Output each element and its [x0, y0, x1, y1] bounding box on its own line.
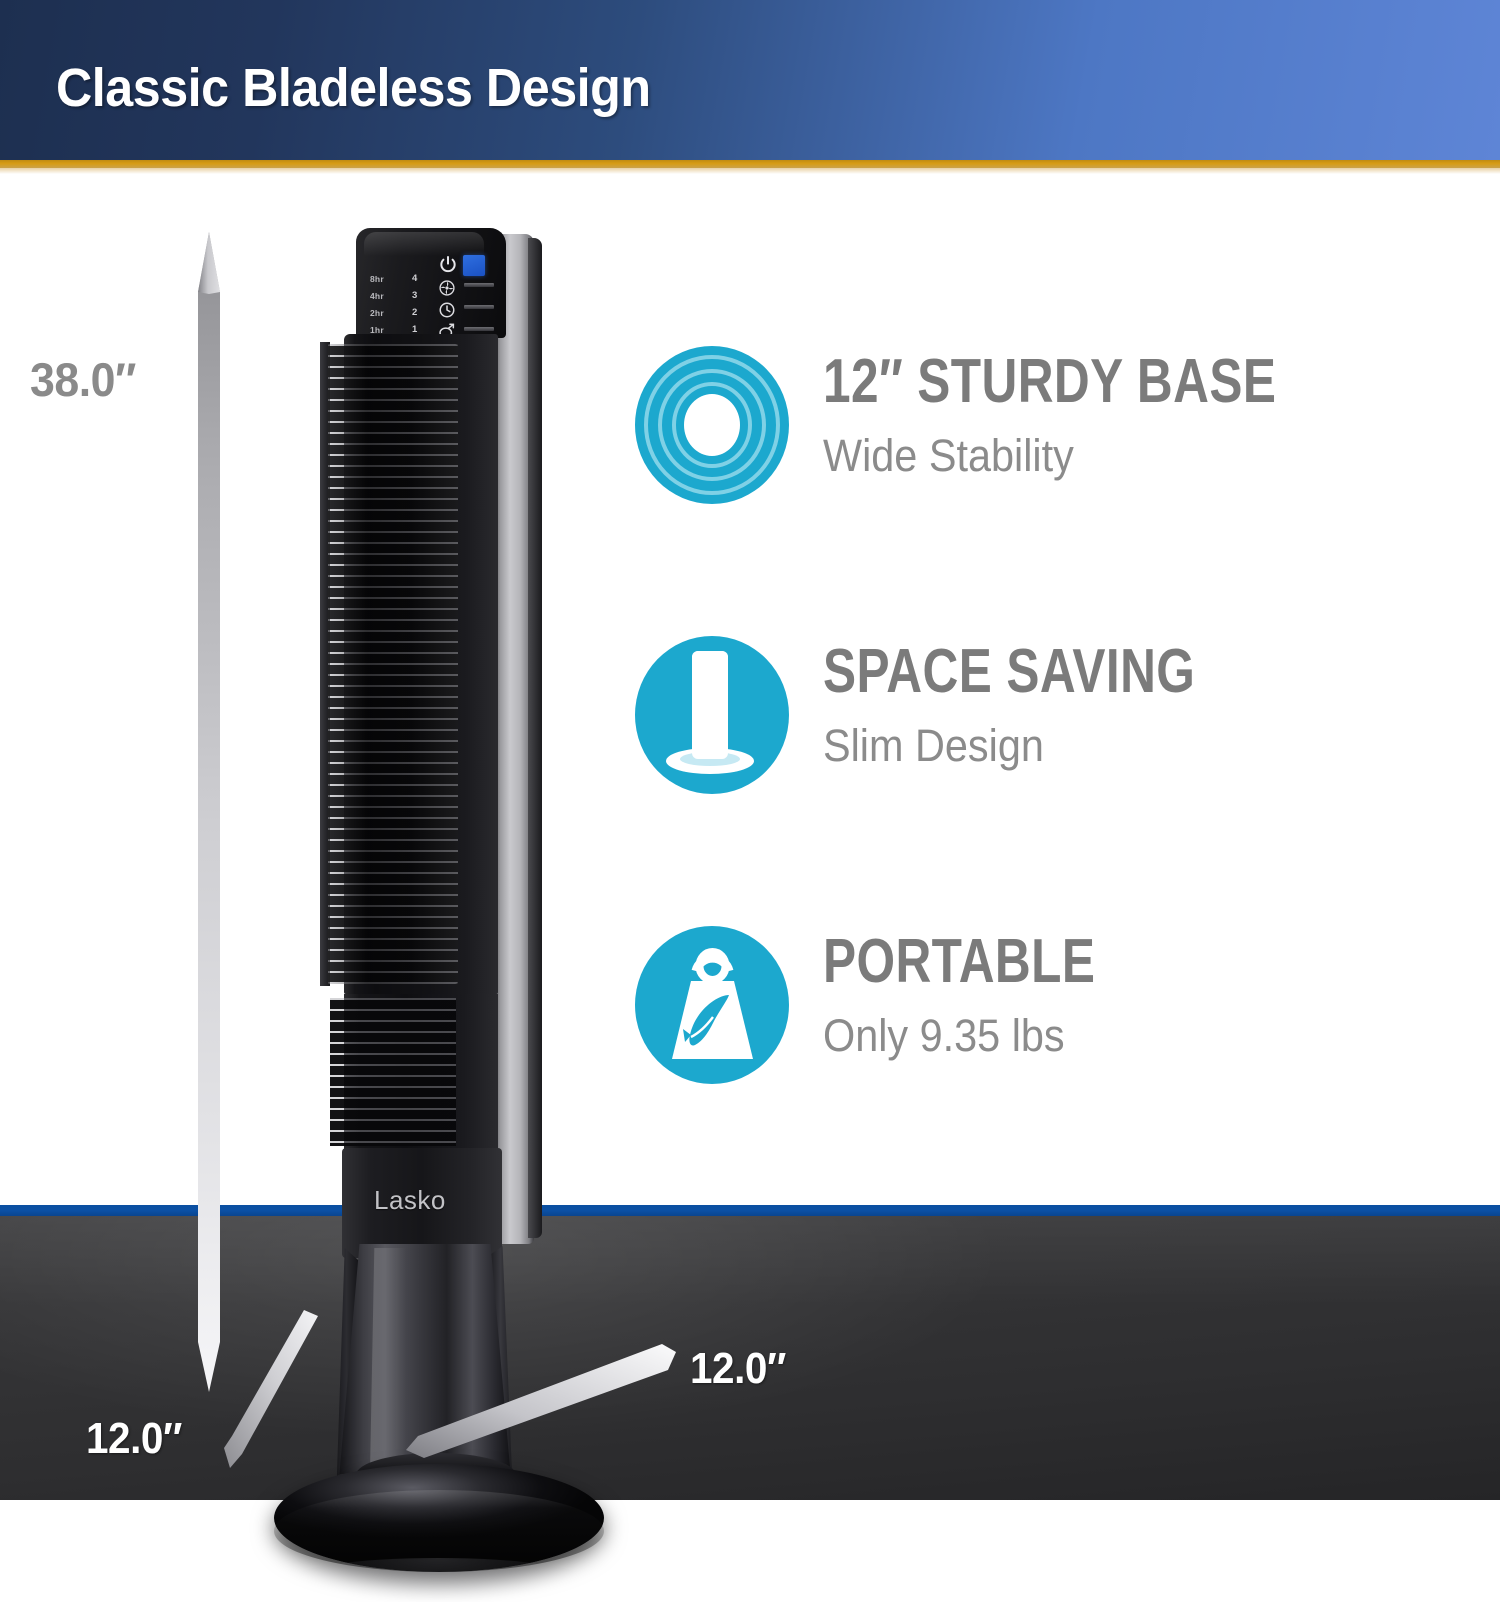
feature-subheading: Slim Design — [823, 723, 1251, 768]
product-tower-fan-image: 8hr 4hr 2hr 1hr 4 3 2 1 — [318, 228, 608, 1378]
tower-fan-icon — [633, 635, 791, 795]
feature-item-space-saving: SPACE SAVING Slim Design — [633, 635, 1463, 925]
oscillate-bar — [464, 327, 494, 331]
fan-base-reflection — [288, 1558, 588, 1602]
feature-heading: PORTABLE — [823, 931, 1095, 993]
timer-label-2hr: 2hr — [370, 308, 384, 318]
feature-subheading: Wide Stability — [823, 433, 1344, 478]
speed-label-4: 4 — [412, 273, 417, 284]
fan-spine-shadow — [528, 238, 542, 1238]
floor-sheen — [0, 1216, 1500, 1306]
power-indicator-light — [463, 255, 485, 276]
height-dimension-label: 38.0″ — [30, 352, 136, 407]
brand-logo: Lasko — [374, 1185, 446, 1216]
fan-icon[interactable] — [438, 279, 456, 302]
depth-dimension-arrow-right-icon — [400, 1340, 690, 1460]
header-gold-fade — [0, 168, 1500, 174]
fan-grille-lower — [330, 998, 456, 1146]
timer-icon[interactable] — [438, 301, 456, 324]
weight-feather-icon — [633, 925, 791, 1085]
concentric-rings-icon — [633, 345, 791, 505]
fan-grille-shading — [328, 344, 458, 984]
page-title: Classic Bladeless Design — [56, 57, 651, 119]
feature-text-space-saving: SPACE SAVING Slim Design — [823, 641, 1288, 768]
depth-dimension-label-right: 12.0″ — [690, 1344, 786, 1394]
depth-dimension-label-left: 12.0″ — [86, 1414, 182, 1464]
feature-list: 12″ STURDY BASE Wide Stability SPACE SAV… — [633, 345, 1463, 1215]
timer-label-8hr: 8hr — [370, 274, 384, 284]
power-icon[interactable] — [438, 254, 458, 280]
timer-bar — [464, 305, 494, 309]
feature-heading: 12″ STURDY BASE — [823, 351, 1276, 413]
speed-label-2: 2 — [412, 307, 417, 318]
header-gold-divider — [0, 160, 1500, 168]
fan-speed-bar — [464, 283, 494, 287]
feature-text-portable: PORTABLE Only 9.35 lbs — [823, 931, 1163, 1058]
height-dimension-arrow-icon — [196, 232, 222, 1392]
timer-label-4hr: 4hr — [370, 291, 384, 301]
feature-item-portable: PORTABLE Only 9.35 lbs — [633, 925, 1463, 1215]
feature-subheading: Only 9.35 lbs — [823, 1013, 1136, 1058]
feature-text-sturdy-base: 12″ STURDY BASE Wide Stability — [823, 351, 1390, 478]
feature-item-sturdy-base: 12″ STURDY BASE Wide Stability — [633, 345, 1463, 635]
speed-label-3: 3 — [412, 290, 417, 301]
control-panel[interactable]: 8hr 4hr 2hr 1hr 4 3 2 1 — [370, 250, 496, 338]
depth-dimension-arrow-left-icon — [150, 1310, 410, 1470]
feature-heading: SPACE SAVING — [823, 641, 1195, 703]
